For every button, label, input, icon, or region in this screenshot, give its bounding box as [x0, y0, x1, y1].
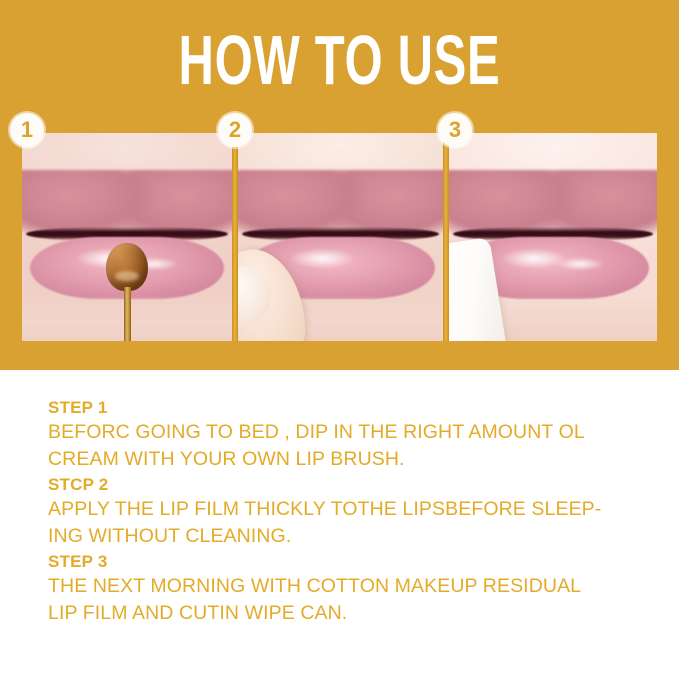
- step-photo-2: [238, 133, 443, 341]
- applicator-wand-head-icon: [106, 243, 148, 291]
- applicator-wand-stick-icon: [124, 287, 131, 341]
- fingernail-icon: [238, 263, 274, 327]
- step-badge-2: 2: [218, 113, 252, 147]
- lip-gloss-highlight-icon: [291, 249, 353, 268]
- upper-lip-icon: [449, 170, 657, 232]
- step-2-body: APPLY THE LIP FILM THICKLY TOTHE LIPSBEF…: [48, 496, 648, 550]
- step-badge-3: 3: [438, 113, 472, 147]
- step-2-heading: STCP 2: [48, 473, 648, 496]
- page-title: HOW TO USE: [102, 24, 577, 96]
- step-photo-3: [449, 133, 657, 341]
- how-to-use-infographic: HOW TO USE: [0, 0, 679, 679]
- step-badge-1: 1: [10, 113, 44, 147]
- step-3-heading: STEP 3: [48, 550, 648, 573]
- step-1-body: BEFORC GOING TO BED , DIP IN THE RIGHT A…: [48, 419, 648, 473]
- step-photo-1: [22, 133, 232, 341]
- step-1-heading: STEP 1: [48, 396, 648, 419]
- step-3-body: THE NEXT MORNING WITH COTTON MAKEUP RESI…: [48, 573, 648, 627]
- instructions-list: STEP 1 BEFORC GOING TO BED , DIP IN THE …: [48, 396, 648, 627]
- photo-strip: [22, 133, 657, 341]
- upper-lip-icon: [22, 170, 232, 232]
- upper-lip-icon: [238, 170, 443, 232]
